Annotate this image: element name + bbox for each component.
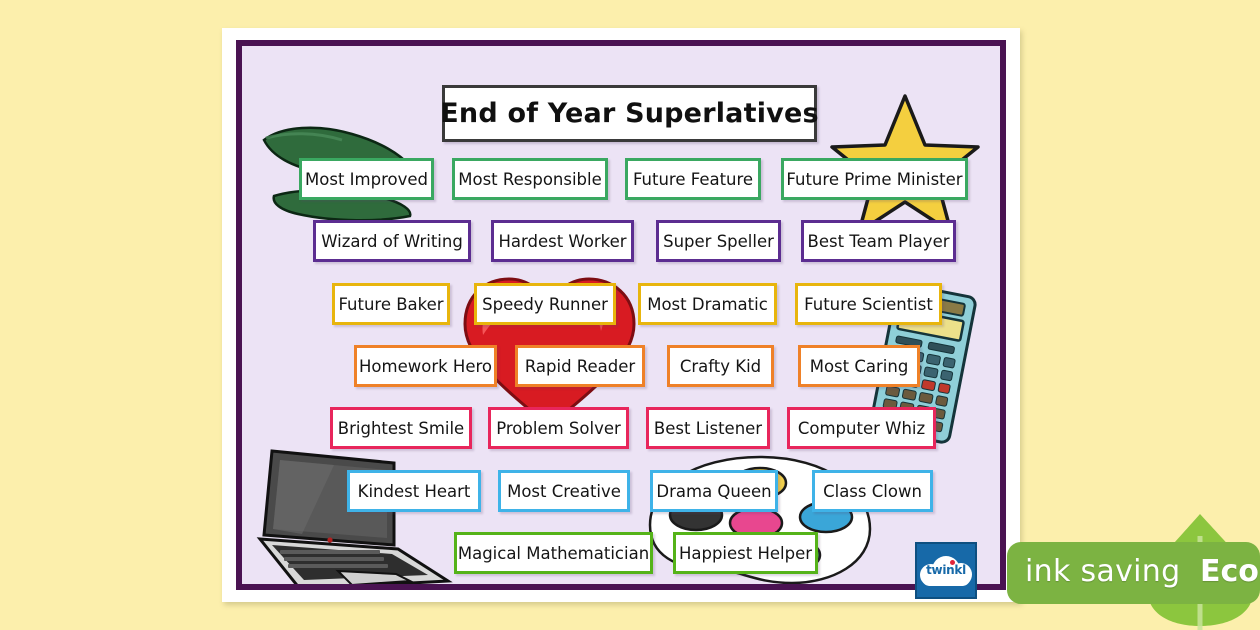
superlative-label[interactable]: Speedy Runner (474, 283, 616, 325)
superlative-label[interactable]: Future Baker (332, 283, 450, 325)
page-title-text: End of Year Superlatives (440, 98, 818, 129)
superlative-label-text: Kindest Heart (345, 482, 484, 501)
superlative-label-text: Best Team Player (795, 232, 963, 251)
superlative-label-text: Future Prime Minister (773, 170, 975, 189)
superlative-label[interactable]: Brightest Smile (330, 407, 472, 449)
superlative-label[interactable]: Computer Whiz (787, 407, 936, 449)
superlative-label[interactable]: Happiest Helper (673, 532, 818, 574)
twinkl-logo: twinkl (915, 542, 977, 599)
twinkl-wordmark: twinkl (920, 563, 972, 577)
superlative-label-text: Future Feature (620, 170, 766, 189)
superlative-label-text: Most Creative (494, 482, 634, 501)
eco-watermark: ink saving Eco twinkl (915, 532, 1260, 630)
superlative-label-text: Most Dramatic (634, 295, 781, 314)
superlative-label-text: Drama Queen (643, 482, 784, 501)
laptop-illustration (242, 439, 462, 590)
superlative-label-text: Happiest Helper (666, 544, 825, 563)
superlative-label[interactable]: Crafty Kid (667, 345, 774, 387)
superlative-label[interactable]: Future Feature (625, 158, 761, 200)
superlative-label[interactable]: Most Responsible (452, 158, 608, 200)
poster-stage: End of Year Superlatives Most ImprovedMo… (0, 0, 1260, 630)
superlative-label-text: Future Scientist (791, 295, 946, 314)
superlative-label-text: Best Listener (641, 419, 775, 438)
superlative-label[interactable]: Future Scientist (795, 283, 942, 325)
superlative-label[interactable]: Problem Solver (488, 407, 629, 449)
superlative-label-text: Future Baker (325, 295, 456, 314)
poster-frame: End of Year Superlatives Most ImprovedMo… (236, 40, 1006, 590)
superlative-label-text: Homework Hero (346, 357, 505, 376)
superlative-label-text: Most Responsible (445, 170, 615, 189)
superlative-label-text: Computer Whiz (785, 419, 938, 438)
superlative-label[interactable]: Homework Hero (354, 345, 497, 387)
superlative-label[interactable]: Most Improved (299, 158, 434, 200)
superlative-label-text: Wizard of Writing (308, 232, 476, 251)
superlative-label-text: Problem Solver (483, 419, 634, 438)
superlative-label[interactable]: Most Creative (498, 470, 630, 512)
cloud-icon: twinkl (920, 554, 972, 588)
superlative-label-text: Crafty Kid (667, 357, 774, 376)
superlative-label[interactable]: Wizard of Writing (313, 220, 471, 262)
superlative-label-text: Magical Mathematician (445, 544, 662, 563)
eco-label: ink saving (1025, 554, 1180, 589)
twinkl-dot-icon (950, 560, 955, 565)
superlative-label[interactable]: Super Speller (656, 220, 781, 262)
superlative-label-text: Class Clown (810, 482, 935, 501)
superlative-label[interactable]: Most Dramatic (638, 283, 777, 325)
superlative-label[interactable]: Hardest Worker (491, 220, 634, 262)
superlative-label-text: Super Speller (650, 232, 787, 251)
superlative-label[interactable]: Future Prime Minister (781, 158, 968, 200)
superlative-label-text: Speedy Runner (469, 295, 621, 314)
poster-canvas: End of Year Superlatives Most ImprovedMo… (242, 46, 1000, 584)
eco-word: Eco (1200, 554, 1259, 589)
superlative-label-text: Most Caring (797, 357, 922, 376)
poster-sheet: End of Year Superlatives Most ImprovedMo… (222, 28, 1020, 602)
superlative-label[interactable]: Kindest Heart (347, 470, 481, 512)
superlative-label[interactable]: Drama Queen (650, 470, 778, 512)
page-title: End of Year Superlatives (442, 85, 817, 142)
superlative-label[interactable]: Best Team Player (801, 220, 956, 262)
superlative-label[interactable]: Magical Mathematician (454, 532, 653, 574)
superlative-label-text: Brightest Smile (325, 419, 477, 438)
superlative-label[interactable]: Most Caring (798, 345, 920, 387)
superlative-label-text: Rapid Reader (512, 357, 648, 376)
superlative-label[interactable]: Rapid Reader (515, 345, 645, 387)
superlative-label[interactable]: Class Clown (812, 470, 933, 512)
superlative-label-text: Hardest Worker (485, 232, 639, 251)
superlative-label-text: Most Improved (292, 170, 441, 189)
superlative-label[interactable]: Best Listener (646, 407, 770, 449)
